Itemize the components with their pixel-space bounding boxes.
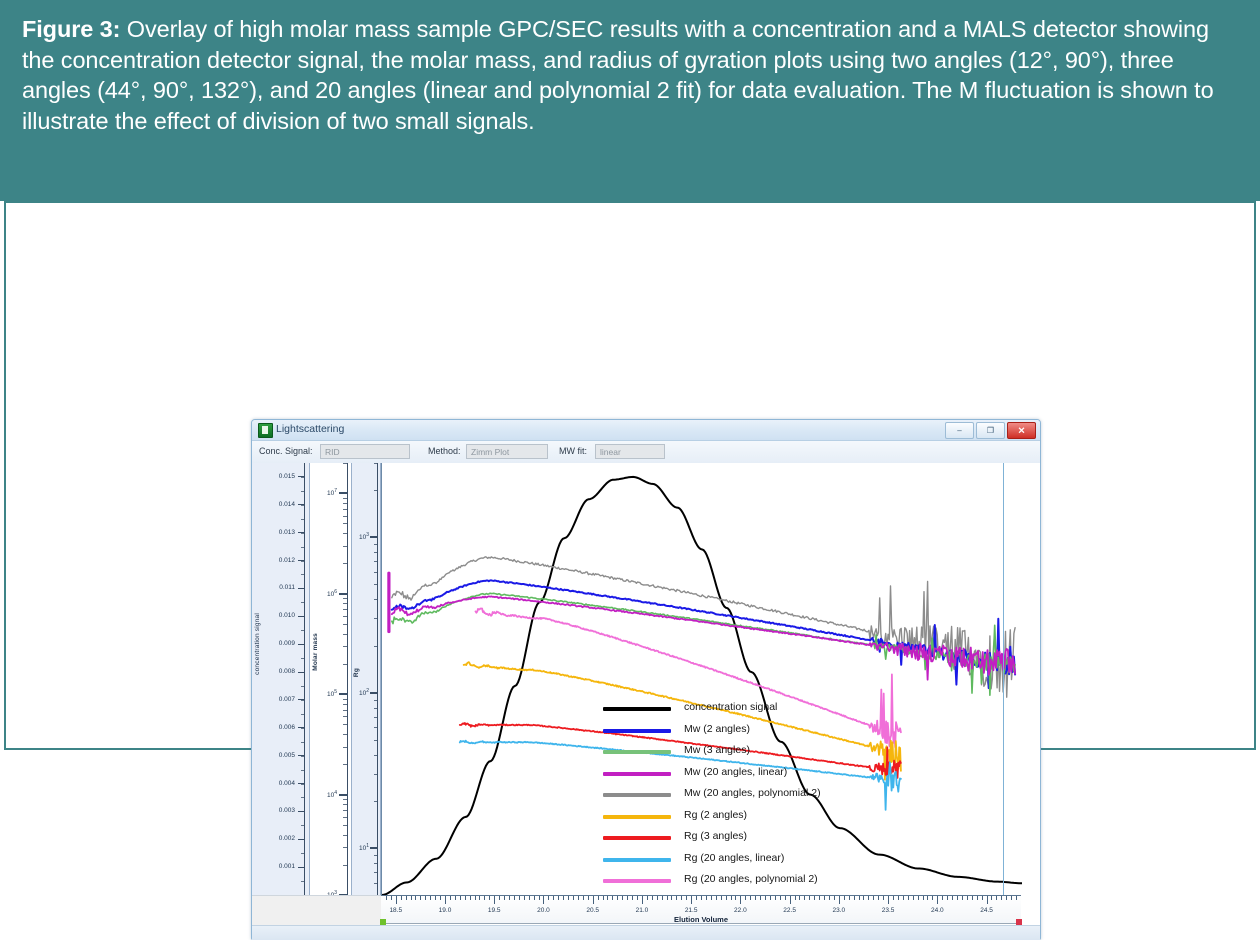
application-icon	[258, 423, 273, 438]
axis-tick	[370, 536, 378, 538]
x-axis-strip: 18.519.019.520.020.521.021.522.022.523.0…	[252, 895, 1040, 925]
legend-swatch	[603, 815, 671, 819]
conc-signal-value: RID	[325, 447, 340, 457]
x-axis-left-gutter	[252, 895, 381, 925]
x-axis-tick-label: 18.5	[389, 907, 402, 914]
legend-swatch	[603, 836, 671, 840]
axis-tick-label: 104	[327, 790, 337, 799]
close-button[interactable]: ✕	[1007, 422, 1036, 439]
axis-tick	[370, 692, 378, 694]
lightscattering-window: Lightscattering – ❐ ✕ Conc. Signal: RID …	[251, 419, 1041, 940]
conc-signal-label: Conc. Signal:	[259, 446, 313, 456]
axis-tick	[370, 847, 378, 849]
molar-mass-axis-title: Molar mass	[312, 633, 319, 671]
settings-toolbar: Conc. Signal: RID Method: Zimm Plot MW f…	[252, 441, 1040, 464]
axis-tick-label: 0.009	[279, 640, 295, 647]
legend-label: Mw (20 angles, polynomial 2)	[684, 787, 821, 799]
axis-tick-label: 0.002	[279, 835, 295, 842]
axis-tick-label: 0.008	[279, 668, 295, 675]
axis-tick	[339, 492, 348, 494]
figure-page: Figure 3: Overlay of high molar mass sam…	[0, 0, 1260, 758]
x-axis-ruler[interactable]: 18.519.019.520.020.521.021.522.022.523.0…	[381, 895, 1021, 924]
window-titlebar[interactable]: Lightscattering – ❐ ✕	[252, 420, 1040, 441]
figure-caption-prefix: Figure 3:	[22, 16, 120, 42]
axis-tick-label: 0.010	[279, 612, 295, 619]
figure-frame: Lightscattering – ❐ ✕ Conc. Signal: RID …	[4, 201, 1256, 750]
axis-tick	[339, 593, 348, 595]
axis-tick-label: 0.003	[279, 807, 295, 814]
minimize-icon: –	[957, 427, 961, 435]
conc-signal-select[interactable]: RID	[320, 444, 410, 459]
mw-fit-label: MW fit:	[559, 446, 587, 456]
legend-swatch	[603, 772, 671, 776]
x-axis-tick-label: 22.0	[734, 907, 747, 914]
close-icon: ✕	[1018, 426, 1026, 435]
legend-swatch	[603, 858, 671, 862]
rg-axis-pane[interactable]: Rg 103102101	[352, 463, 381, 895]
axis-tick-label: 0.015	[279, 473, 295, 480]
figure-caption-body: Overlay of high molar mass sample GPC/SE…	[22, 16, 1214, 134]
method-value: Zimm Plot	[471, 447, 509, 457]
x-axis-tick-label: 23.5	[882, 907, 895, 914]
axis-tick-label: 102	[359, 688, 369, 697]
plot-area[interactable]: concentration signal Mw (2 angles) Mw (3…	[381, 463, 1022, 895]
window-title: Lightscattering	[276, 423, 344, 435]
x-axis-tick-label: 24.5	[980, 907, 993, 914]
chart-canvas: concentration signal 0.0150.0140.0130.01…	[252, 463, 1040, 895]
axis-tick-label: 101	[359, 843, 369, 852]
method-select[interactable]: Zimm Plot	[466, 444, 548, 459]
axis-tick-label: 0.001	[279, 863, 295, 870]
legend-swatch	[603, 707, 671, 711]
restore-icon: ❐	[987, 427, 994, 435]
x-axis-tick-label: 24.0	[931, 907, 944, 914]
plot-right-border	[1003, 463, 1004, 895]
x-axis-tick-label: 21.5	[685, 907, 698, 914]
x-axis-tick-label: 20.5	[586, 907, 599, 914]
legend-label: Mw (2 angles)	[684, 723, 750, 735]
x-axis-tick-label: 23.0	[833, 907, 846, 914]
axis-tick-label: 0.006	[279, 724, 295, 731]
axis-tick-label: 0.013	[279, 529, 295, 536]
legend-label: concentration signal	[684, 701, 777, 713]
restore-button[interactable]: ❐	[976, 422, 1005, 439]
axis-tick-label: 103	[359, 532, 369, 541]
legend-swatch	[603, 729, 671, 733]
molar-mass-axis-pane[interactable]: Molar mass 107106105104103	[310, 463, 352, 895]
x-axis-tick-label: 19.0	[439, 907, 452, 914]
x-axis-title: Elution Volume	[674, 915, 728, 924]
legend-label: Rg (20 angles, linear)	[684, 852, 784, 864]
legend-label: Rg (2 angles)	[684, 809, 747, 821]
axis-tick-label: 0.004	[279, 780, 295, 787]
mw-fit-value: linear	[600, 447, 621, 457]
axis-tick-label: 106	[327, 589, 337, 598]
legend-swatch	[603, 750, 671, 754]
minimize-button[interactable]: –	[945, 422, 974, 439]
x-axis-tick-label: 22.5	[783, 907, 796, 914]
x-axis-tick-label: 21.0	[636, 907, 649, 914]
legend-swatch	[603, 879, 671, 883]
legend-label: Rg (20 angles, polynomial 2)	[684, 873, 818, 885]
axis-tick	[339, 693, 348, 695]
method-label: Method:	[428, 446, 461, 456]
axis-tick-label: 0.014	[279, 501, 295, 508]
window-statusbar	[252, 925, 1040, 940]
axis-tick	[339, 794, 348, 796]
axis-tick-label: 0.007	[279, 696, 295, 703]
concentration-axis-pane[interactable]: concentration signal 0.0150.0140.0130.01…	[252, 463, 310, 895]
window-controls: – ❐ ✕	[945, 422, 1036, 439]
legend-swatch	[603, 793, 671, 797]
axis-tick-label: 0.012	[279, 557, 295, 564]
legend-label: Mw (3 angles)	[684, 744, 750, 756]
axis-tick-label: 107	[327, 488, 337, 497]
x-axis-tick-label: 20.0	[537, 907, 550, 914]
axis-tick-label: 0.011	[279, 584, 295, 591]
legend-label: Rg (3 angles)	[684, 830, 747, 842]
x-axis-tick-label: 19.5	[488, 907, 501, 914]
legend-label: Mw (20 angles, linear)	[684, 766, 787, 778]
rg-axis-title: Rg	[353, 668, 360, 677]
mw-fit-select[interactable]: linear	[595, 444, 665, 459]
concentration-axis-title: concentration signal	[254, 613, 261, 675]
figure-caption-text: Figure 3: Overlay of high molar mass sam…	[22, 14, 1238, 136]
axis-tick-label: 105	[327, 689, 337, 698]
figure-caption-band: Figure 3: Overlay of high molar mass sam…	[0, 0, 1260, 201]
